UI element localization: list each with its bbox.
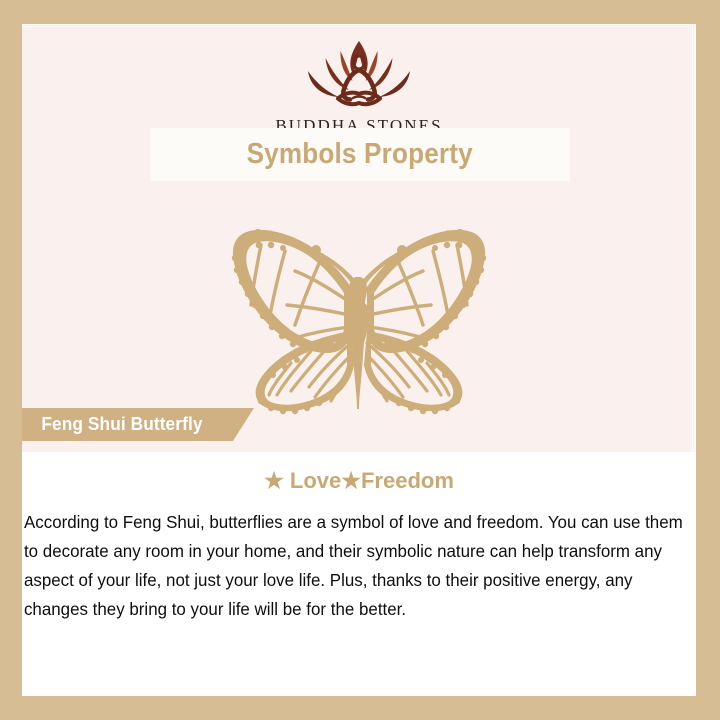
monarch-butterfly-illustration [199,215,519,415]
title-banner: Symbols Property [150,128,570,181]
content-subheading: ★ Love★Freedom [22,468,696,494]
frame-band-right [696,0,720,720]
feng-shui-butterfly-ribbon: Feng Shui Butterfly [22,408,254,441]
frame-band-bottom [0,696,720,720]
lotus-meditation-icon [284,34,434,112]
brand-logo: BUDDHA STONES [22,24,696,136]
page-title: Symbols Property [247,138,473,171]
ribbon-label: Feng Shui Butterfly [41,414,202,435]
frame-band-top [0,0,720,24]
frame-band-left [0,24,22,720]
content-paragraph: According to Feng Shui, butterflies are … [22,508,686,624]
description-panel: ★ Love★Freedom According to Feng Shui, b… [22,452,696,696]
poster-root: BUDDHA STONES Symbols Property [0,0,720,720]
inner-canvas: BUDDHA STONES Symbols Property [22,24,696,696]
